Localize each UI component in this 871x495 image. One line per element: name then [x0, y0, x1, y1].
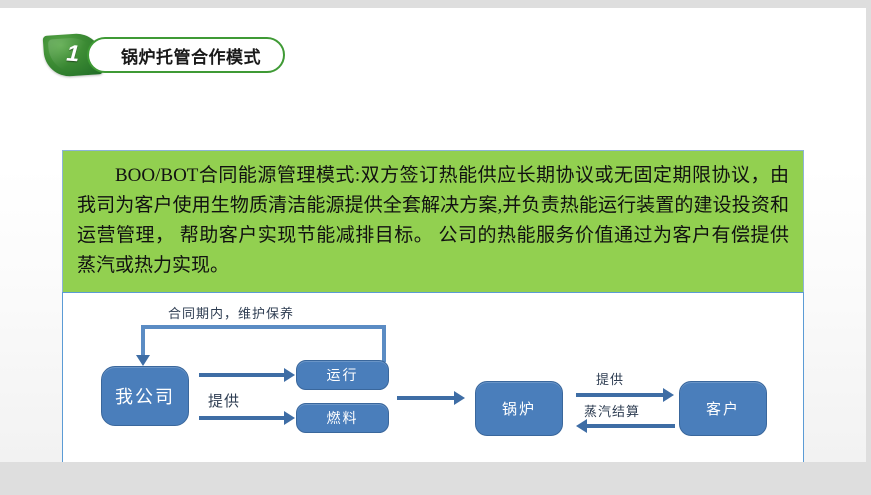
summary-text: BOO/BOT合同能源管理模式:双方签订热能供应长期协议或无固定期限协议，由我司…: [77, 161, 789, 281]
arrowhead-group-to-boiler-icon: [454, 391, 465, 405]
node-customer-label: 客户: [706, 398, 740, 419]
edge-label-maintenance: 合同期内，维护保养: [168, 303, 294, 322]
arrow-boiler-to-customer: [576, 393, 664, 397]
edge-label-supply-left: 提供: [208, 390, 240, 411]
arrowhead-company-to-run-icon: [284, 368, 295, 382]
node-fuel[interactable]: 燃料: [296, 403, 389, 433]
node-boiler[interactable]: 锅炉: [475, 381, 563, 436]
slide-canvas: 1 锅炉托管合作模式 BOO/BOT合同能源管理模式:双方签订热能供应长期协议或…: [0, 8, 866, 462]
loop-segment-top: [141, 325, 386, 329]
arrow-company-to-fuel: [199, 416, 285, 420]
arrowhead-company-to-fuel-icon: [284, 411, 295, 425]
node-customer[interactable]: 客户: [679, 381, 767, 436]
node-fuel-label: 燃料: [327, 408, 359, 428]
node-company-label: 我公司: [115, 383, 175, 409]
slide-header: 1 锅炉托管合作模式: [44, 32, 344, 78]
node-run-label: 运行: [327, 365, 359, 385]
loop-segment-right: [382, 325, 386, 362]
node-company[interactable]: 我公司: [101, 366, 189, 426]
arrowhead-boiler-to-customer-icon: [663, 388, 674, 402]
arrowhead-customer-to-boiler-icon: [576, 419, 587, 433]
loop-segment-left: [141, 325, 145, 357]
edge-label-settlement: 蒸汽结算: [584, 401, 640, 420]
arrow-group-to-boiler: [397, 396, 455, 400]
arrow-company-to-run: [199, 373, 285, 377]
summary-box: BOO/BOT合同能源管理模式:双方签订热能供应长期协议或无固定期限协议，由我司…: [62, 150, 804, 294]
arrow-customer-to-boiler: [587, 424, 675, 428]
edge-label-supply-right: 提供: [596, 369, 624, 388]
page-title: 锅炉托管合作模式: [121, 43, 261, 68]
slide-title-pill: 锅炉托管合作模式: [87, 37, 285, 73]
node-boiler-label: 锅炉: [502, 398, 536, 419]
loop-arrowhead-icon: [136, 355, 150, 366]
node-run[interactable]: 运行: [296, 360, 389, 390]
process-diagram: 合同期内，维护保养 我公司 提供 运行 燃料 锅炉 提供: [62, 292, 804, 462]
